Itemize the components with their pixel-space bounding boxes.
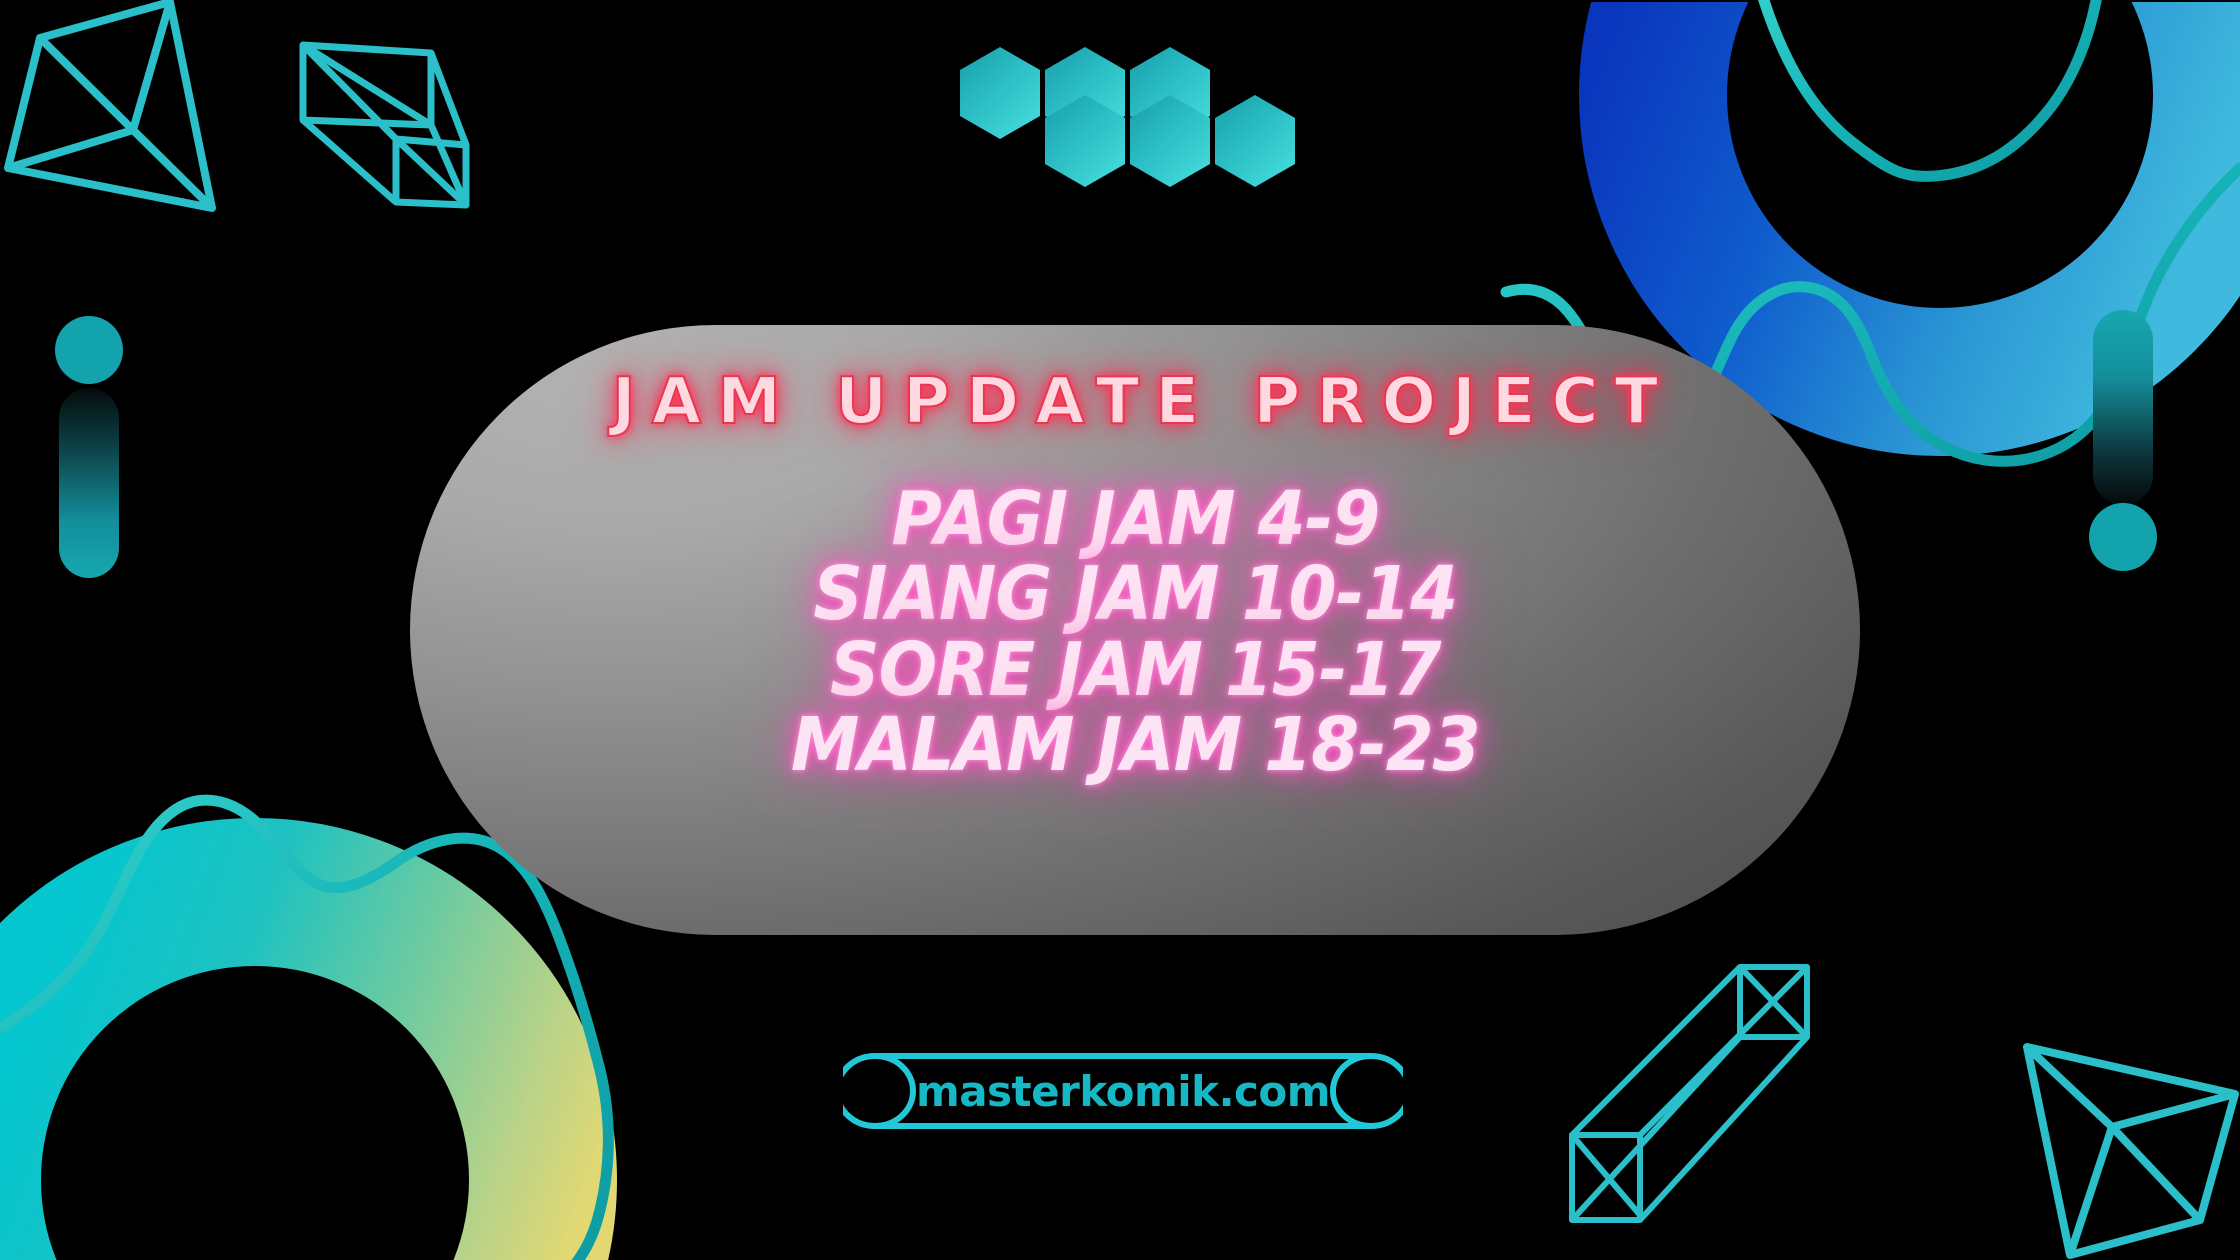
schedule-item-malam: MALAM JAM 18-23: [791, 708, 1480, 783]
hexagon-1: [960, 47, 1040, 139]
exclamation-left: [55, 316, 123, 578]
exclamation-left-bar: [59, 388, 119, 578]
poster-canvas: JAM UPDATE PROJECT PAGI JAM 4-9 SIANG JA…: [0, 0, 2240, 1260]
exclamation-left-dot: [55, 316, 123, 384]
schedule-item-pagi: PAGI JAM 4-9: [891, 482, 1379, 557]
tetrahedron-top-left: [8, 2, 212, 208]
hexagon-cluster: [960, 47, 1295, 187]
schedule-list: PAGI JAM 4-9 SIANG JAM 10-14 SORE JAM 15…: [765, 482, 1506, 784]
prism-bottom-right: [1572, 967, 1807, 1220]
footer-url-badge[interactable]: masterkomik.com: [843, 1042, 1403, 1140]
wave-line-top-right: [1755, 0, 2098, 176]
hero-text-block: JAM UPDATE PROJECT PAGI JAM 4-9 SIANG JA…: [410, 325, 1860, 935]
exclamation-right-bar: [2093, 310, 2153, 505]
schedule-item-sore: SORE JAM 15-17: [830, 633, 1440, 708]
schedule-item-siang: SIANG JAM 10-14: [813, 557, 1457, 632]
tetrahedron-bottom-right: [2027, 1047, 2235, 1255]
hexagon-6: [1215, 95, 1295, 187]
prism-top-left: [303, 45, 466, 205]
ring-bottom-left: [0, 892, 543, 1260]
exclamation-right-dot: [2089, 503, 2157, 571]
page-title: JAM UPDATE PROJECT: [596, 370, 1674, 434]
exclamation-right: [2089, 310, 2157, 571]
footer-url-text[interactable]: masterkomik.com: [843, 1042, 1403, 1140]
